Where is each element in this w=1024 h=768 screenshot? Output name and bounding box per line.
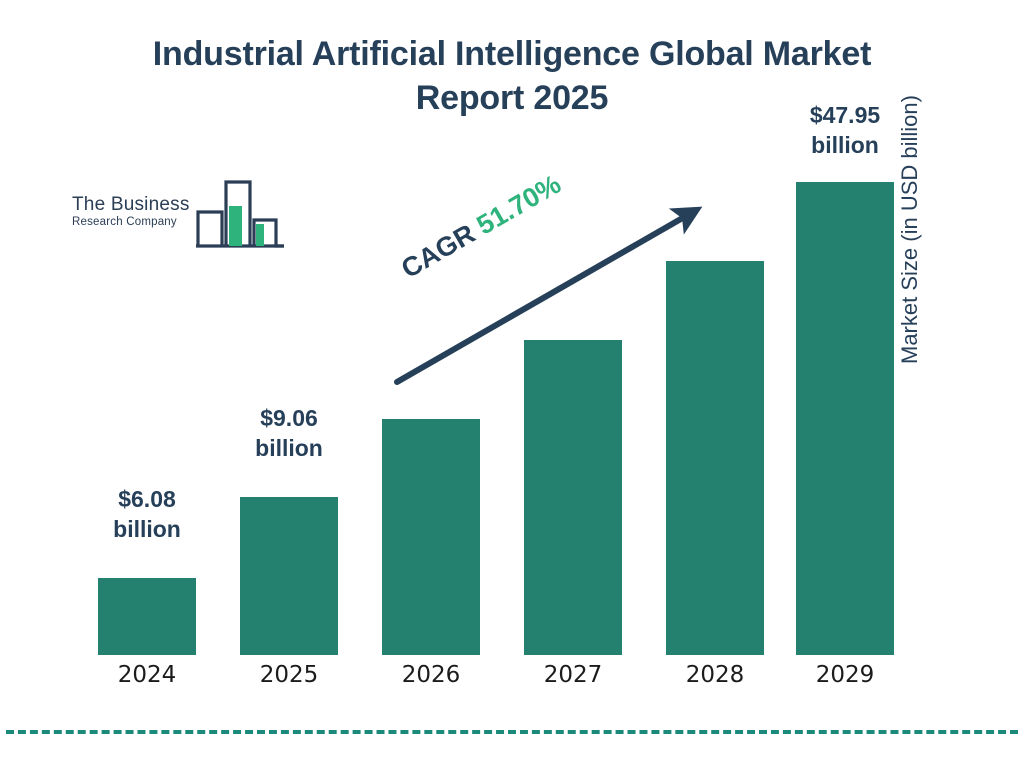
- x-tick-label-2024: 2024: [98, 662, 196, 688]
- x-tick-label-2028: 2028: [666, 662, 764, 688]
- chart-canvas: Industrial Artificial Intelligence Globa…: [0, 0, 1024, 768]
- cagr-annotation: CAGR 51.70%: [396, 169, 566, 285]
- bar-chart-plot: $6.08 billion $9.06 billion $47.95 billi…: [0, 0, 1024, 768]
- bar-2026: [382, 419, 480, 655]
- y-axis-title: Market Size (in USD billion): [897, 34, 931, 364]
- cagr-label: CAGR: [396, 218, 480, 284]
- bar-2029: [796, 182, 894, 655]
- bar-2025: [240, 497, 338, 655]
- x-tick-label-2025: 2025: [240, 662, 338, 688]
- bar-2027: [524, 340, 622, 655]
- x-tick-label-2027: 2027: [524, 662, 622, 688]
- bar-value-label-2024-line1: $6.08: [70, 484, 224, 514]
- footer-divider: [6, 730, 1018, 734]
- bar-value-label-2025-line2: billion: [212, 433, 366, 463]
- x-tick-label-2029: 2029: [796, 662, 894, 688]
- x-tick-label-2026: 2026: [382, 662, 480, 688]
- bar-2024: [98, 578, 196, 655]
- cagr-value: 51.70%: [472, 169, 566, 241]
- bar-value-label-2025: $9.06 billion: [212, 403, 366, 464]
- bar-value-label-2024-line2: billion: [70, 514, 224, 544]
- bar-2028: [666, 261, 764, 655]
- bar-value-label-2024: $6.08 billion: [70, 484, 224, 545]
- bar-value-label-2025-line1: $9.06: [212, 403, 366, 433]
